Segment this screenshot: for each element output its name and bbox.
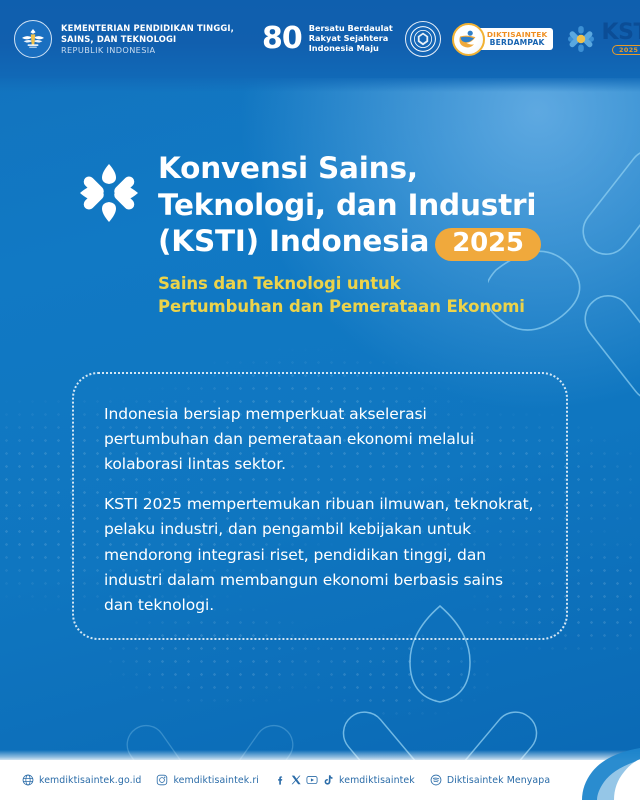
- diktisaintek-wordmark: DIKTISAINTEK BERDAMPAK: [476, 28, 554, 50]
- ksti-flower-icon: [566, 24, 596, 54]
- tiktok-icon[interactable]: [322, 774, 334, 786]
- footer-podcast-text: Diktisaintek Menyapa: [447, 775, 550, 786]
- hero-title-block: Konvensi Sains, Teknologi, dan Industri …: [78, 150, 600, 319]
- ministry-name: KEMENTERIAN PENDIDIKAN TINGGI, SAINS, DA…: [61, 23, 234, 55]
- hero-subtitle: Sains dan Teknologi untuk Pertumbuhan da…: [158, 273, 541, 319]
- page-title: Konvensi Sains, Teknologi, dan Industri …: [158, 150, 541, 261]
- footer-instagram[interactable]: kemdiktisaintek.ri: [156, 774, 259, 786]
- footer-social-handle[interactable]: kemdiktisaintek: [274, 774, 415, 786]
- description-paragraph-1: Indonesia bersiap memperkuat akselerasi …: [104, 402, 536, 477]
- ksti-wordmark: KSTI 2025: [601, 23, 640, 56]
- logo-kemdiktisaintek: KEMENTERIAN PENDIDIKAN TINGGI, SAINS, DA…: [14, 20, 234, 58]
- footer-social-bar: kemdiktisaintek.go.id kemdiktisaintek.ri: [0, 760, 640, 800]
- instagram-icon: [156, 774, 168, 786]
- university-seal-icon: [405, 21, 441, 57]
- youtube-icon[interactable]: [306, 774, 318, 786]
- title-line-3: (KSTI) Indonesia: [158, 224, 429, 258]
- description-card: Indonesia bersiap memperkuat akselerasi …: [72, 372, 568, 640]
- garuda-tutwurihandayani-seal-icon: [14, 20, 52, 58]
- ministry-line3: REPUBLIK INDONESIA: [61, 45, 234, 55]
- facebook-icon[interactable]: [274, 774, 286, 786]
- description-paragraph-2: KSTI 2025 mempertemukan ribuan ilmuwan, …: [104, 492, 536, 618]
- logo-diktisaintek-berdampak: DIKTISAINTEK BERDAMPAK: [452, 23, 554, 56]
- title-line-1: Konvensi Sains,: [158, 151, 418, 185]
- ksti-year-badge: 2025: [612, 45, 640, 55]
- ministry-line2: SAINS, DAN TEKNOLOGI: [61, 34, 234, 44]
- footer-podcast[interactable]: Diktisaintek Menyapa: [430, 774, 550, 786]
- anniversary-slogan: Bersatu Berdaulat Rakyat Sejahtera Indon…: [309, 24, 393, 54]
- x-twitter-icon[interactable]: [290, 774, 302, 786]
- logo-ksti: KSTI 2025: [566, 23, 640, 56]
- anniversary-number: 80: [262, 24, 302, 54]
- title-line-2: Teknologi, dan Industri: [158, 188, 536, 222]
- footer-website-text: kemdiktisaintek.go.id: [39, 775, 141, 786]
- globe-icon: [22, 774, 34, 786]
- footer-instagram-text: kemdiktisaintek.ri: [173, 775, 259, 786]
- poster-canvas: KEMENTERIAN PENDIDIKAN TINGGI, SAINS, DA…: [0, 0, 640, 800]
- header-logo-bar: KEMENTERIAN PENDIDIKAN TINGGI, SAINS, DA…: [0, 0, 640, 78]
- footer-social-icon-group: [274, 774, 334, 786]
- subtitle-line-2: Pertumbuhan dan Pemerataan Ekonomi: [158, 296, 541, 319]
- diktisaintek-swoosh-icon: [452, 23, 485, 56]
- ministry-line1: KEMENTERIAN PENDIDIKAN TINGGI,: [61, 23, 234, 33]
- logo-80th-anniversary: 80 Bersatu Berdaulat Rakyat Sejahtera In…: [262, 24, 393, 54]
- footer-social-handle-text: kemdiktisaintek: [339, 775, 415, 786]
- anniversary-line3: Indonesia Maju: [309, 44, 393, 54]
- year-badge: 2025: [435, 228, 541, 261]
- ksti-flower-icon: [78, 162, 140, 224]
- spotify-icon: [430, 774, 442, 786]
- footer-website[interactable]: kemdiktisaintek.go.id: [22, 774, 141, 786]
- diktisaintek-line2: BERDAMPAK: [487, 39, 548, 47]
- subtitle-line-1: Sains dan Teknologi untuk: [158, 273, 541, 296]
- ksti-text: KSTI: [601, 23, 640, 44]
